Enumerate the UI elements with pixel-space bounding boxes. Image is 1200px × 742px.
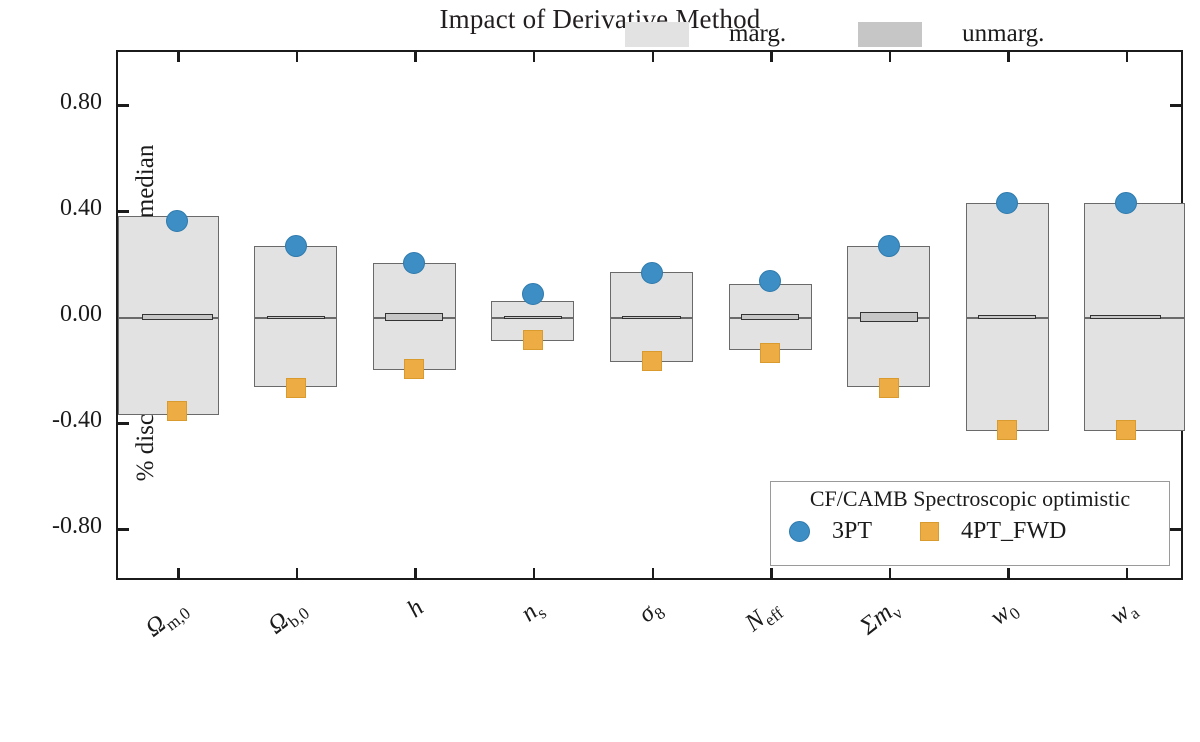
marker-3pt — [166, 210, 188, 232]
x-tick-mark — [652, 568, 655, 579]
unmarg-box — [978, 315, 1036, 318]
marker-3pt — [522, 283, 544, 305]
y-tick-label: -0.40 — [0, 407, 102, 434]
marker-4pt-fwd — [997, 420, 1017, 440]
marker-4pt-fwd — [642, 351, 662, 371]
marker-3pt — [641, 262, 663, 284]
marker-3pt — [1115, 192, 1137, 214]
x-tick-mark — [414, 568, 417, 579]
legend-bottom-row: 3PT 4PT_FWD — [771, 518, 1169, 545]
marker-3pt — [878, 235, 900, 257]
x-tick-mark — [1007, 568, 1010, 579]
marker-3pt — [285, 235, 307, 257]
marker-4pt-fwd — [286, 378, 306, 398]
y-tick-label: -0.80 — [0, 513, 102, 540]
x-tick-mark-top — [296, 51, 299, 62]
x-tick-mark-top — [533, 51, 536, 62]
legend-bottom-label-3pt: 3PT — [832, 518, 872, 545]
x-tick-mark — [889, 568, 892, 579]
x-tick-mark-top — [652, 51, 655, 62]
x-tick-mark — [770, 568, 773, 579]
unmarg-box — [622, 316, 680, 319]
legend-swatch-marg — [625, 22, 689, 47]
y-tick-mark — [118, 528, 129, 531]
legend-label-unmarg: unmarg. — [962, 20, 1044, 48]
unmarg-box — [504, 316, 562, 319]
x-tick-mark — [177, 568, 180, 579]
y-tick-mark — [118, 210, 129, 213]
unmarg-box — [860, 312, 918, 322]
y-tick-mark — [118, 422, 129, 425]
x-tick-mark-top — [1126, 51, 1129, 62]
legend-bottom-label-4ptfwd: 4PT_FWD — [961, 518, 1066, 545]
x-tick-mark-top — [889, 51, 892, 62]
x-tick-mark-top — [177, 51, 180, 62]
x-tick-mark-top — [414, 51, 417, 62]
y-tick-mark — [118, 104, 129, 107]
marker-4pt-fwd — [1116, 420, 1136, 440]
marker-4pt-fwd — [879, 378, 899, 398]
x-tick-mark — [296, 568, 299, 579]
unmarg-box — [142, 314, 213, 320]
marker-4pt-fwd — [404, 359, 424, 379]
marker-4pt-fwd — [760, 343, 780, 363]
x-tick-mark-top — [770, 51, 773, 62]
x-tick-mark-top — [1007, 51, 1010, 62]
y-tick-mark-right — [1170, 528, 1181, 531]
marker-3pt — [996, 192, 1018, 214]
legend-marker-4ptfwd-icon — [920, 522, 939, 541]
y-tick-label: 0.40 — [0, 195, 102, 222]
legend-marker-3pt-icon — [789, 521, 810, 542]
marker-4pt-fwd — [523, 330, 543, 350]
marker-4pt-fwd — [167, 401, 187, 421]
legend-label-marg: marg. — [729, 20, 786, 48]
legend-bottom-title: CF/CAMB Spectroscopic optimistic — [771, 486, 1169, 512]
legend-swatch-unmarg — [858, 22, 922, 47]
unmarg-box — [741, 314, 799, 320]
x-tick-mark — [1126, 568, 1129, 579]
unmarg-box — [267, 316, 325, 319]
unmarg-box — [1090, 315, 1161, 319]
legend-top: marg. unmarg. — [625, 16, 1045, 52]
y-tick-label: 0.80 — [0, 89, 102, 116]
y-tick-mark-right — [1170, 104, 1181, 107]
x-tick-mark — [533, 568, 536, 579]
plot-area: % discrepancy on σᵢ w.r.t. median 0.800.… — [116, 50, 1183, 580]
legend-bottom: CF/CAMB Spectroscopic optimistic 3PT 4PT… — [770, 481, 1170, 566]
y-tick-label: 0.00 — [0, 301, 102, 328]
unmarg-box — [385, 313, 443, 321]
